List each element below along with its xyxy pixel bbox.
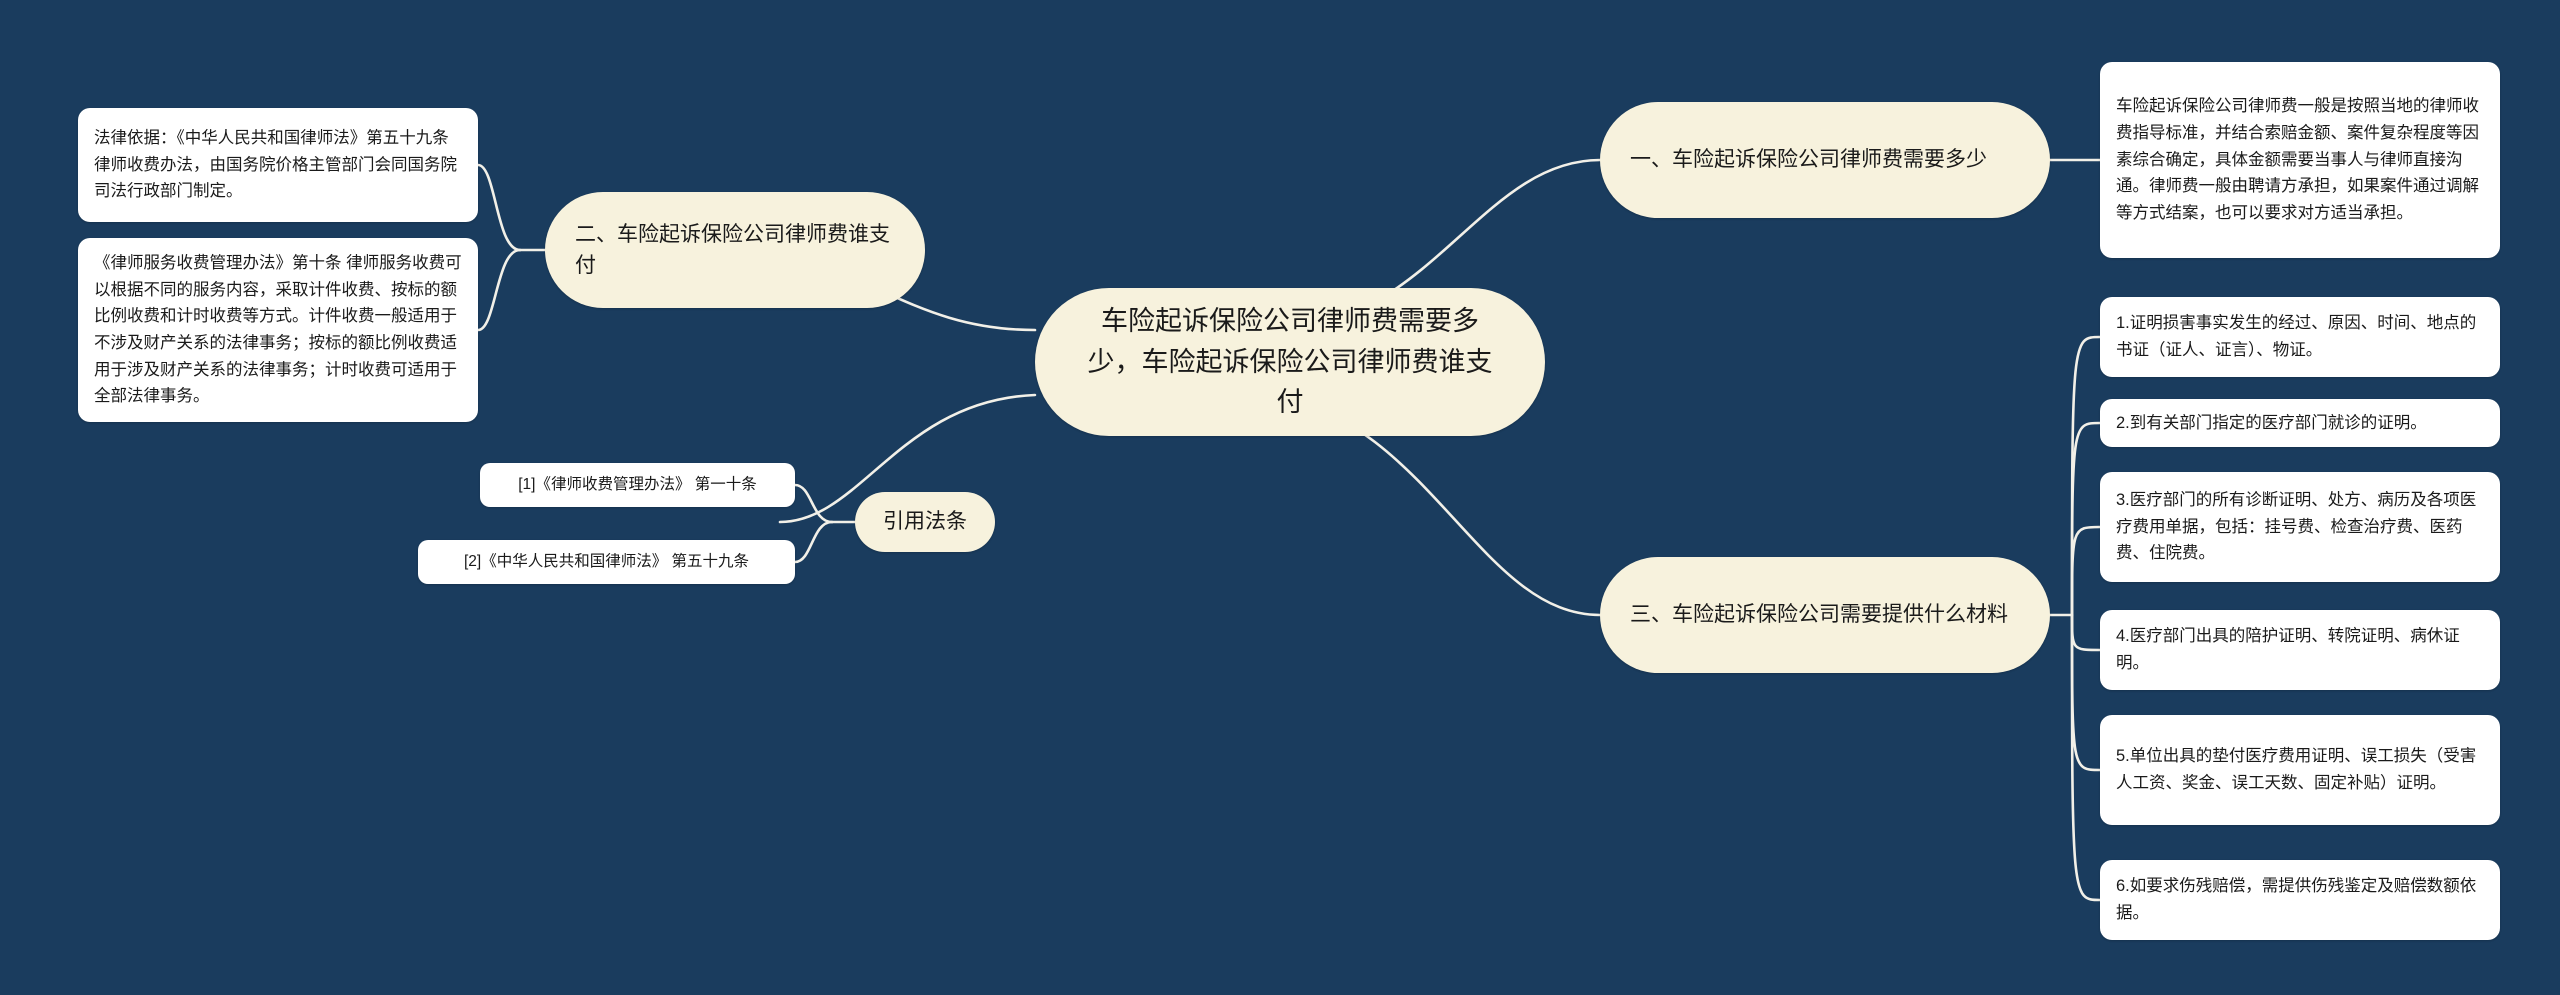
- leaf-node-3-4[interactable]: 4.医疗部门出具的陪护证明、转院证明、病休证明。: [2100, 610, 2500, 690]
- leaf-node-3-5-label: 5.单位出具的垫付医疗费用证明、误工损失（受害人工资、奖金、误工天数、固定补贴）…: [2116, 743, 2484, 796]
- leaf-node-1-1[interactable]: 车险起诉保险公司律师费一般是按照当地的律师收费指导标准，并结合索赔金额、案件复杂…: [2100, 62, 2500, 258]
- connector-branch-2-to-leaf-2-1: [478, 165, 520, 250]
- leaf-node-3-3[interactable]: 3.医疗部门的所有诊断证明、处方、病历及各项医疗费用单据，包括：挂号费、检查治疗…: [2100, 472, 2500, 582]
- leaf-node-3-3-label: 3.医疗部门的所有诊断证明、处方、病历及各项医疗费用单据，包括：挂号费、检查治疗…: [2116, 487, 2484, 567]
- leaf-node-1-1-label: 车险起诉保险公司律师费一般是按照当地的律师收费指导标准，并结合索赔金额、案件复杂…: [2116, 93, 2484, 227]
- cite-node-1-label: [1]《律师收费管理办法》 第一十条: [518, 473, 757, 496]
- leaf-node-3-5[interactable]: 5.单位出具的垫付医疗费用证明、误工损失（受害人工资、奖金、误工天数、固定补贴）…: [2100, 715, 2500, 825]
- connector-branch-3-to-leaf-3-4: [2072, 615, 2100, 650]
- leaf-node-2-1[interactable]: 法律依据：《中华人民共和国律师法》第五十九条 律师收费办法，由国务院价格主管部门…: [78, 108, 478, 222]
- branch-node-2[interactable]: 二、车险起诉保险公司律师费谁支付: [545, 192, 925, 308]
- leaf-node-3-1[interactable]: 1.证明损害事实发生的经过、原因、时间、地点的书证（证人、证言）、物证。: [2100, 297, 2500, 377]
- root-node-label: 车险起诉保险公司律师费需要多少，车险起诉保险公司律师费谁支付: [1075, 301, 1505, 423]
- cite-node-2-label: [2]《中华人民共和国律师法》 第五十九条: [464, 550, 749, 573]
- leaf-node-2-2[interactable]: 《律师服务收费管理办法》第十条 律师服务收费可以根据不同的服务内容，采取计件收费…: [78, 238, 478, 422]
- connector-branch-4-to-cite-2: [795, 522, 832, 562]
- leaf-node-3-2-label: 2.到有关部门指定的医疗部门就诊的证明。: [2116, 410, 2427, 437]
- connector-branch-3-to-leaf-3-1: [2072, 337, 2100, 615]
- leaf-node-3-6-label: 6.如要求伤残赔偿，需提供伤残鉴定及赔偿数额依据。: [2116, 873, 2484, 926]
- leaf-node-3-4-label: 4.医疗部门出具的陪护证明、转院证明、病休证明。: [2116, 623, 2484, 676]
- root-node[interactable]: 车险起诉保险公司律师费需要多少，车险起诉保险公司律师费谁支付: [1035, 288, 1545, 436]
- branch-node-1[interactable]: 一、车险起诉保险公司律师费需要多少: [1600, 102, 2050, 218]
- mindmap-canvas: 车险起诉保险公司律师费需要多少，车险起诉保险公司律师费谁支付 一、车险起诉保险公…: [0, 0, 2560, 995]
- connector-branch-4-to-cite-1: [795, 485, 832, 522]
- branch-node-4[interactable]: 引用法条: [855, 492, 995, 552]
- leaf-node-2-1-label: 法律依据：《中华人民共和国律师法》第五十九条 律师收费办法，由国务院价格主管部门…: [94, 125, 462, 205]
- cite-node-2[interactable]: [2]《中华人民共和国律师法》 第五十九条: [418, 540, 795, 584]
- branch-node-4-label: 引用法条: [883, 506, 967, 538]
- cite-node-1[interactable]: [1]《律师收费管理办法》 第一十条: [480, 463, 795, 507]
- connector-branch-3-to-leaf-3-3: [2072, 527, 2100, 615]
- branch-node-3-label: 三、车险起诉保险公司需要提供什么材料: [1630, 599, 2008, 631]
- leaf-node-2-2-label: 《律师服务收费管理办法》第十条 律师服务收费可以根据不同的服务内容，采取计件收费…: [94, 250, 462, 410]
- branch-node-3[interactable]: 三、车险起诉保险公司需要提供什么材料: [1600, 557, 2050, 673]
- connector-branch-3-to-leaf-3-5: [2072, 615, 2100, 770]
- connector-branch-3-to-leaf-3-6: [2072, 615, 2100, 900]
- branch-node-2-label: 二、车险起诉保险公司律师费谁支付: [575, 219, 895, 282]
- connector-branch-3-to-leaf-3-2: [2072, 423, 2100, 615]
- leaf-node-3-2[interactable]: 2.到有关部门指定的医疗部门就诊的证明。: [2100, 399, 2500, 447]
- leaf-node-3-1-label: 1.证明损害事实发生的经过、原因、时间、地点的书证（证人、证言）、物证。: [2116, 310, 2484, 363]
- connector-branch-2-to-leaf-2-2: [478, 250, 520, 330]
- branch-node-1-label: 一、车险起诉保险公司律师费需要多少: [1630, 144, 1987, 176]
- leaf-node-3-6[interactable]: 6.如要求伤残赔偿，需提供伤残鉴定及赔偿数额依据。: [2100, 860, 2500, 940]
